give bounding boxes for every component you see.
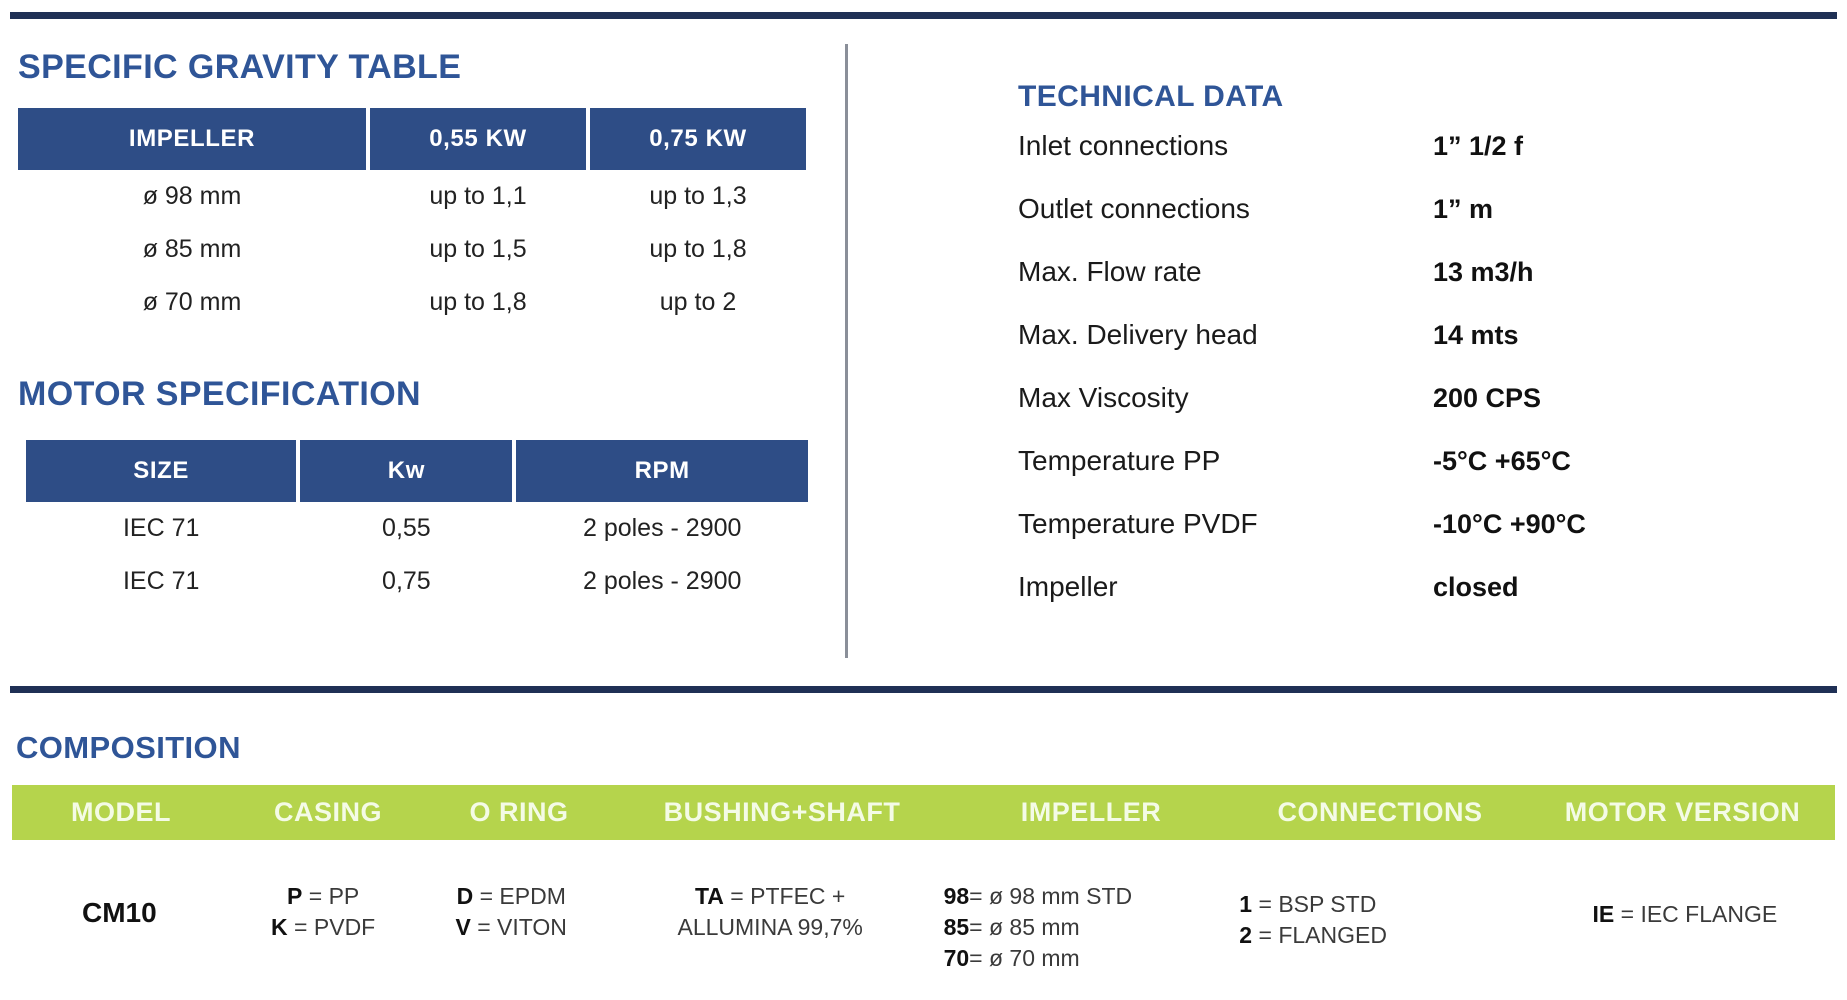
comp-entry-sep: = — [1614, 901, 1640, 927]
motor-specification-table: SIZE Kw RPM IEC 71 0,55 2 poles - 2900 I… — [22, 440, 812, 608]
ms-cell: 0,75 — [300, 555, 512, 608]
comp-entry-key: IE — [1592, 901, 1614, 927]
composition-header-bar: MODEL CASING O RING BUSHING+SHAFT IMPELL… — [12, 785, 1835, 840]
tech-label: Temperature PVDF — [1018, 508, 1433, 540]
technical-data-list: Inlet connections 1” 1/2 f Outlet connec… — [1018, 130, 1808, 634]
comp-col-casing: CASING — [230, 797, 426, 828]
comp-entry-val: VITON — [497, 914, 567, 940]
comp-entry-val: ø 98 mm STD — [989, 883, 1132, 909]
table-header-row: SIZE Kw RPM — [26, 440, 808, 502]
comp-entry-sep: = — [724, 883, 750, 909]
comp-cell-impeller: 98= ø 98 mm STD 85= ø 85 mm 70= ø 70 mm — [938, 875, 1218, 974]
comp-entry-key: 2 — [1239, 922, 1252, 948]
comp-entry-key: 85 — [944, 914, 970, 940]
tech-row-max-delivery-head: Max. Delivery head 14 mts — [1018, 319, 1808, 382]
ms-cell: IEC 71 — [26, 502, 296, 555]
mid-divider-rule — [10, 686, 1837, 693]
comp-entry-sep: = — [969, 883, 989, 909]
comp-entry-val: ALLUMINA 99,7% — [677, 914, 862, 940]
ms-cell: 0,55 — [300, 502, 512, 555]
tech-label: Temperature PP — [1018, 445, 1433, 477]
comp-entry-sep: = — [969, 914, 989, 940]
specific-gravity-table: IMPELLER 0,55 KW 0,75 KW ø 98 mm up to 1… — [14, 108, 810, 329]
comp-col-connections: CONNECTIONS — [1230, 797, 1530, 828]
tech-row-temperature-pvdf: Temperature PVDF -10°C +90°C — [1018, 508, 1808, 571]
comp-col-motor-version: MOTOR VERSION — [1530, 797, 1835, 828]
sg-cell: up to 1,8 — [370, 276, 586, 329]
tech-value: -10°C +90°C — [1433, 509, 1586, 540]
composition-body: CM10 P = PP K = PVDF D = EPDM V = VITON … — [12, 875, 1835, 985]
tech-row-outlet-connections: Outlet connections 1” m — [1018, 193, 1808, 256]
tech-label: Max Viscosity — [1018, 382, 1433, 414]
comp-entry-val: FLANGED — [1278, 922, 1387, 948]
ms-cell: 2 poles - 2900 — [516, 555, 808, 608]
comp-entry: TA = PTFEC + — [603, 881, 938, 912]
tech-label: Max. Delivery head — [1018, 319, 1433, 351]
comp-entry-key: K — [271, 914, 288, 940]
comp-entry: 85= ø 85 mm — [944, 912, 1218, 943]
tech-value: 1” m — [1433, 194, 1493, 225]
sg-cell: up to 1,3 — [590, 170, 806, 223]
comp-entry-sep: = — [473, 883, 499, 909]
tech-row-inlet-connections: Inlet connections 1” 1/2 f — [1018, 130, 1808, 193]
comp-entry-val: IEC FLANGE — [1640, 901, 1777, 927]
comp-entry-sep: = — [288, 914, 314, 940]
comp-entry-sep: = — [1252, 891, 1278, 917]
tech-value: closed — [1433, 572, 1519, 603]
table-row: IEC 71 0,75 2 poles - 2900 — [26, 555, 808, 608]
sg-cell: up to 1,5 — [370, 223, 586, 276]
table-row: ø 98 mm up to 1,1 up to 1,3 — [18, 170, 806, 223]
comp-entry-val: PTFEC + — [750, 883, 845, 909]
technical-data-title: TECHNICAL DATA — [1018, 80, 1284, 114]
top-divider-rule — [10, 12, 1837, 19]
sg-col-075kw: 0,75 KW — [590, 108, 806, 170]
table-header-row: IMPELLER 0,55 KW 0,75 KW — [18, 108, 806, 170]
comp-model-value: CM10 — [82, 897, 157, 928]
comp-entry-key: 70 — [944, 945, 970, 971]
table-row: ø 70 mm up to 1,8 up to 2 — [18, 276, 806, 329]
comp-entry-sep: = — [471, 914, 497, 940]
tech-value: 14 mts — [1433, 320, 1519, 351]
composition-title: COMPOSITION — [16, 730, 241, 766]
comp-entry-val: PVDF — [314, 914, 375, 940]
comp-entry: IE = IEC FLANGE — [1535, 899, 1835, 930]
ms-col-rpm: RPM — [516, 440, 808, 502]
comp-col-bushing-shaft: BUSHING+SHAFT — [612, 797, 952, 828]
comp-cell-o-ring: D = EPDM V = VITON — [420, 875, 603, 943]
comp-entry: K = PVDF — [227, 912, 420, 943]
tech-row-temperature-pp: Temperature PP -5°C +65°C — [1018, 445, 1808, 508]
comp-entry-val: PP — [329, 883, 360, 909]
ms-col-size: SIZE — [26, 440, 296, 502]
tech-row-max-viscosity: Max Viscosity 200 CPS — [1018, 382, 1808, 445]
comp-entry-val: ø 70 mm — [989, 945, 1080, 971]
comp-entry-key: 1 — [1239, 891, 1252, 917]
comp-entry-sep: = — [302, 883, 328, 909]
tech-row-impeller: Impeller closed — [1018, 571, 1808, 634]
comp-entry: 1 = BSP STD — [1239, 889, 1534, 920]
comp-entry: V = VITON — [420, 912, 603, 943]
comp-entry-key: V — [455, 914, 470, 940]
comp-entry: P = PP — [227, 881, 420, 912]
tech-label: Outlet connections — [1018, 193, 1433, 225]
sg-col-impeller: IMPELLER — [18, 108, 366, 170]
comp-entry: ALLUMINA 99,7% — [603, 912, 938, 943]
comp-entry-key: D — [457, 883, 474, 909]
comp-cell-motor-version: IE = IEC FLANGE — [1535, 875, 1835, 930]
tech-value: 200 CPS — [1433, 383, 1541, 414]
sg-cell: ø 85 mm — [18, 223, 366, 276]
comp-entry-key: P — [287, 883, 302, 909]
comp-entry: 70= ø 70 mm — [944, 943, 1218, 974]
column-separator — [845, 44, 848, 658]
ms-cell: IEC 71 — [26, 555, 296, 608]
comp-cell-casing: P = PP K = PVDF — [227, 875, 420, 943]
sg-cell: up to 2 — [590, 276, 806, 329]
sg-cell: ø 70 mm — [18, 276, 366, 329]
comp-entry-val: EPDM — [499, 883, 565, 909]
comp-entry: D = EPDM — [420, 881, 603, 912]
specific-gravity-title: SPECIFIC GRAVITY TABLE — [18, 48, 461, 87]
comp-entry: 2 = FLANGED — [1239, 920, 1534, 951]
sg-col-055kw: 0,55 KW — [370, 108, 586, 170]
tech-label: Inlet connections — [1018, 130, 1433, 162]
comp-entry-val: ø 85 mm — [989, 914, 1080, 940]
comp-entry-sep: = — [1252, 922, 1278, 948]
comp-col-model: MODEL — [12, 797, 230, 828]
ms-cell: 2 poles - 2900 — [516, 502, 808, 555]
sg-cell: up to 1,1 — [370, 170, 586, 223]
tech-value: 13 m3/h — [1433, 257, 1534, 288]
comp-cell-model: CM10 — [12, 875, 227, 929]
comp-col-o-ring: O RING — [426, 797, 612, 828]
motor-specification-title: MOTOR SPECIFICATION — [18, 375, 421, 414]
table-row: IEC 71 0,55 2 poles - 2900 — [26, 502, 808, 555]
comp-cell-bushing-shaft: TA = PTFEC + ALLUMINA 99,7% — [603, 875, 938, 943]
tech-value: 1” 1/2 f — [1433, 131, 1523, 162]
tech-value: -5°C +65°C — [1433, 446, 1571, 477]
comp-entry-val: BSP STD — [1278, 891, 1376, 917]
comp-col-impeller: IMPELLER — [952, 797, 1230, 828]
tech-label: Impeller — [1018, 571, 1433, 603]
comp-entry-sep: = — [969, 945, 989, 971]
tech-row-max-flow-rate: Max. Flow rate 13 m3/h — [1018, 256, 1808, 319]
comp-entry-key: TA — [695, 883, 724, 909]
sg-cell: up to 1,8 — [590, 223, 806, 276]
comp-cell-connections: 1 = BSP STD 2 = FLANGED — [1217, 875, 1534, 951]
ms-col-kw: Kw — [300, 440, 512, 502]
sg-cell: ø 98 mm — [18, 170, 366, 223]
tech-label: Max. Flow rate — [1018, 256, 1433, 288]
comp-entry-key: 98 — [944, 883, 970, 909]
table-row: ø 85 mm up to 1,5 up to 1,8 — [18, 223, 806, 276]
comp-entry: 98= ø 98 mm STD — [944, 881, 1218, 912]
